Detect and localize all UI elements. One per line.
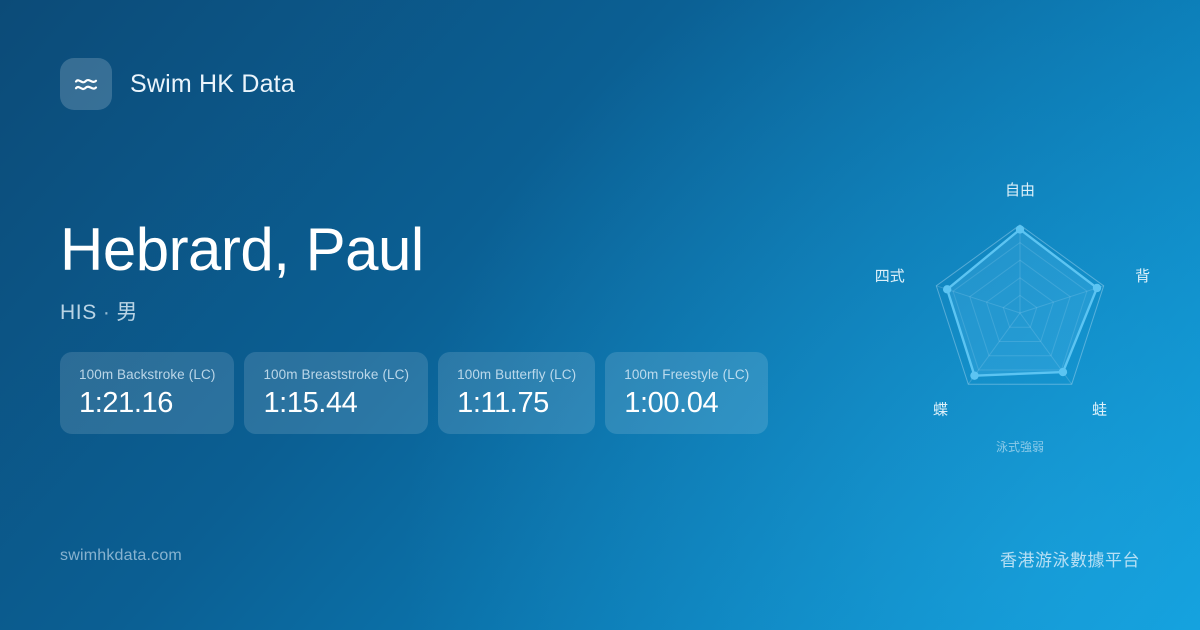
wave-icon (60, 58, 112, 110)
stat-card-time: 1:15.44 (263, 389, 409, 418)
radar-axis-label: 四式 (875, 267, 905, 285)
stat-card: 100m Breaststroke(LC) 1:15.44 (244, 352, 428, 434)
stat-card-time: 1:11.75 (457, 389, 576, 418)
radar-caption: 泳式強弱 (996, 440, 1044, 454)
radar-data-point (1016, 225, 1024, 233)
stat-event-name: 100m Breaststroke (263, 367, 378, 382)
athlete-meta: HIS·男 (60, 296, 424, 326)
stat-card: 100m Freestyle(LC) 1:00.04 (605, 352, 768, 434)
radar-axis-label: 自由 (1005, 181, 1035, 199)
radar-axis-label: 蛙 (1092, 400, 1107, 418)
stat-event-name: 100m Backstroke (79, 367, 185, 382)
brand: Swim HK Data (60, 58, 295, 110)
page-title: Hebrard, Paul (60, 218, 424, 282)
footer-site-url: swimhkdata.com (60, 547, 182, 565)
stat-course-code: (LC) (723, 367, 750, 382)
stat-card-time: 1:00.04 (624, 389, 749, 418)
meta-separator: · (97, 301, 117, 324)
footer-tagline: 香港游泳數據平台 (1000, 546, 1140, 571)
stat-course-code: (LC) (550, 367, 577, 382)
radar-axis-label: 背 (1135, 267, 1150, 285)
athlete-club: HIS (60, 301, 97, 324)
stat-event-name: 100m Butterfly (457, 367, 545, 382)
stat-course-code: (LC) (382, 367, 409, 382)
radar-data-area (947, 229, 1097, 375)
stat-card: 100m Backstroke(LC) 1:21.16 (60, 352, 234, 434)
radar-data-point (1093, 284, 1101, 292)
stat-card: 100m Butterfly(LC) 1:11.75 (438, 352, 595, 434)
stat-card-list: 100m Backstroke(LC) 1:21.16 100m Breasts… (60, 352, 768, 434)
radar-axis-label: 蝶 (933, 400, 948, 418)
og-card: Swim HK Data Hebrard, Paul HIS·男 100m Ba… (0, 0, 1200, 630)
stat-card-label: 100m Butterfly(LC) (457, 367, 576, 382)
stroke-strength-radar-chart: 自由背蛙蝶四式 泳式強弱 (860, 160, 1180, 480)
radar-data-point (970, 371, 978, 379)
stat-card-label: 100m Backstroke(LC) (79, 367, 215, 382)
stat-card-label: 100m Freestyle(LC) (624, 367, 749, 382)
athlete-gender: 男 (116, 301, 138, 324)
radar-data-point (1059, 368, 1067, 376)
stat-card-label: 100m Breaststroke(LC) (263, 367, 409, 382)
stat-course-code: (LC) (189, 367, 216, 382)
brand-name: Swim HK Data (130, 70, 295, 99)
stat-card-time: 1:21.16 (79, 389, 215, 418)
stat-event-name: 100m Freestyle (624, 367, 718, 382)
hero: Hebrard, Paul HIS·男 (60, 218, 424, 326)
radar-data-point (943, 285, 951, 293)
